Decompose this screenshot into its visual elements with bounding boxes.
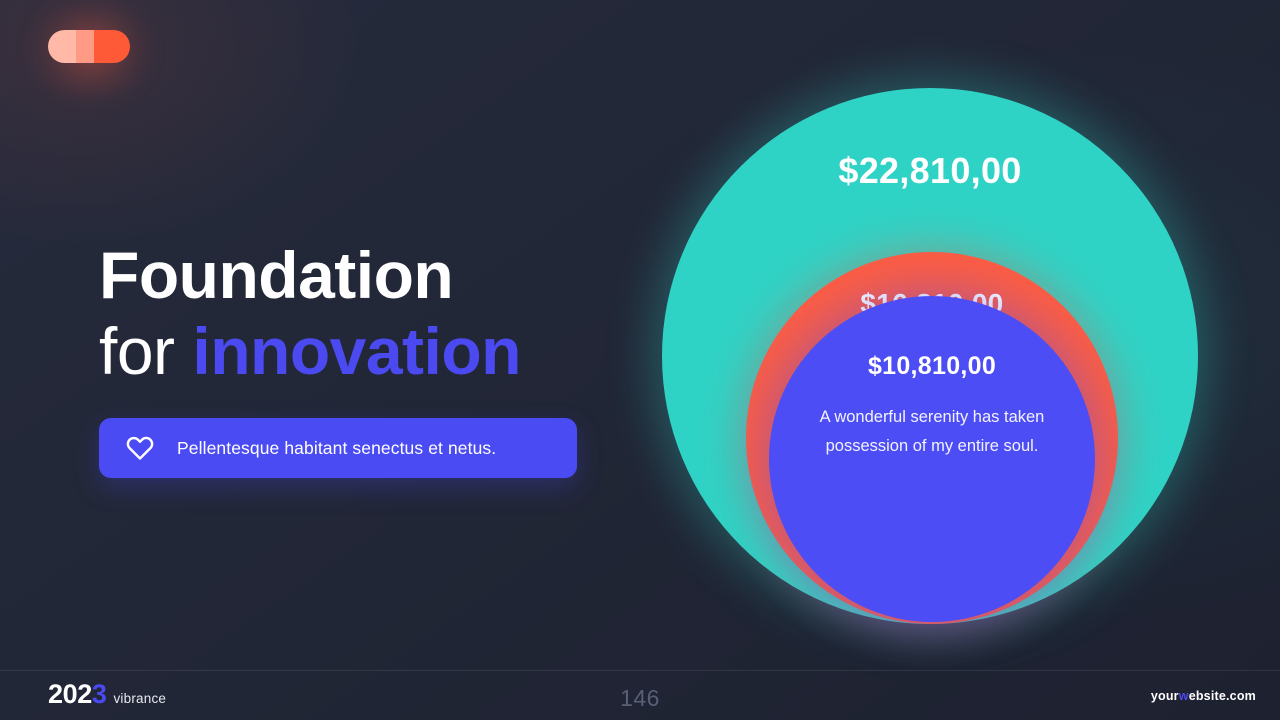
footer-website-accent: w (1179, 689, 1189, 703)
footer-website-suffix: ebsite.com (1189, 689, 1256, 703)
page-number: 146 (0, 685, 1280, 712)
circle-inner-description: A wonderful serenity has taken possessio… (816, 403, 1048, 461)
logo-pill-icon (48, 30, 130, 63)
page-title: Foundation for innovation (99, 236, 599, 390)
heart-icon (125, 433, 155, 463)
headline-line-2: for innovation (99, 312, 599, 390)
nested-circles-chart: $22,810,00 $16,810,00 $10,810,00 A wonde… (662, 82, 1202, 624)
cta-label: Pellentesque habitant senectus et netus. (177, 438, 496, 459)
logo-segment-3 (94, 30, 130, 63)
logo-segment-1 (48, 30, 76, 63)
footer-website[interactable]: yourwebsite.com (1151, 689, 1256, 703)
circle-inner[interactable]: $10,810,00 A wonderful serenity has take… (769, 296, 1095, 622)
headline-line-1: Foundation (99, 236, 599, 314)
cta-button[interactable]: Pellentesque habitant senectus et netus. (99, 418, 577, 478)
headline-prefix: for (99, 314, 192, 388)
logo[interactable] (48, 30, 130, 63)
circle-outer-value: $22,810,00 (838, 150, 1021, 192)
content-column: Foundation for innovation Pellentesque h… (99, 236, 599, 478)
circle-inner-value: $10,810,00 (868, 352, 996, 381)
slide-canvas: Foundation for innovation Pellentesque h… (0, 0, 1280, 720)
footer: 2023 vibrance 146 yourwebsite.com (0, 671, 1280, 720)
footer-website-prefix: your (1151, 689, 1179, 703)
headline-accent: innovation (192, 314, 521, 388)
logo-segment-2 (76, 30, 93, 63)
